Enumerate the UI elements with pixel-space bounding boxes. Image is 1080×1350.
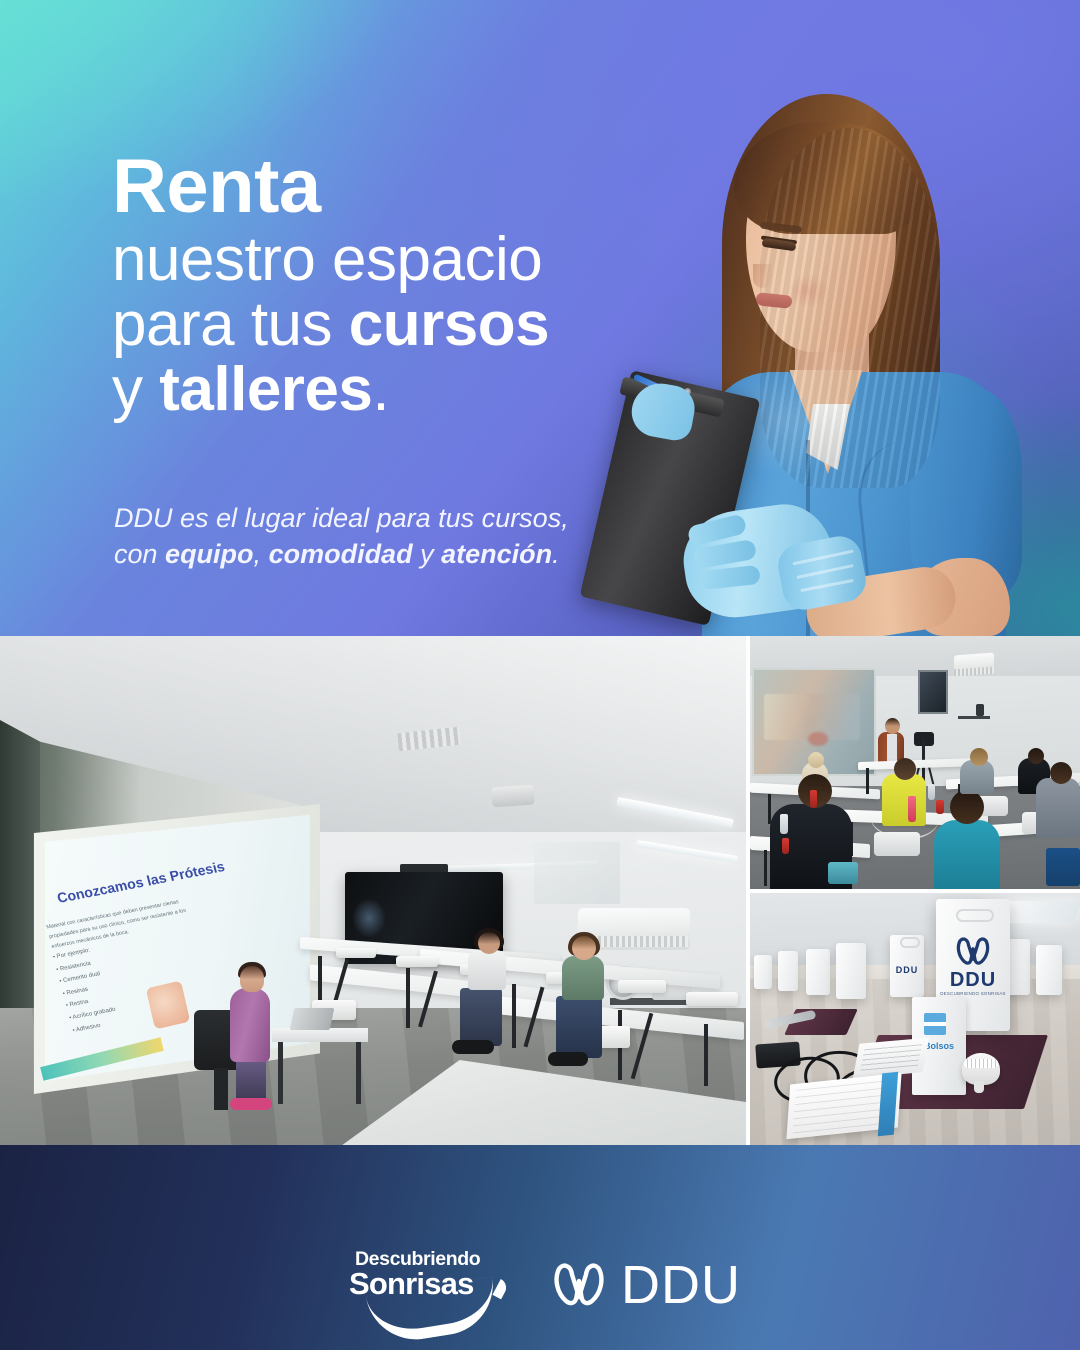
- kit-bag: [778, 951, 798, 991]
- subheadline-line-2: con equipo, comodidad y atención.: [114, 536, 634, 572]
- attendee-head: [950, 790, 984, 824]
- kit-bag: [1036, 945, 1062, 995]
- presenter-legs: [236, 1056, 266, 1102]
- supply-box: [828, 862, 858, 884]
- desk-leg: [764, 850, 767, 886]
- water-bottle: [780, 814, 788, 834]
- presenter-desk-leg: [356, 1042, 361, 1104]
- desk-leg: [866, 768, 869, 794]
- chair: [618, 980, 666, 993]
- ddu-tooth-mark-icon: [553, 1262, 605, 1308]
- subheadline-bold-comodidad: comodidad: [269, 539, 413, 569]
- headline-line-3-bold: cursos: [349, 290, 549, 359]
- student-legs: [556, 996, 602, 1058]
- chair: [396, 956, 438, 967]
- classroom-photo-left: Conozcamos las Prótesis Material con car…: [0, 636, 746, 1145]
- student-shoes: [452, 1040, 494, 1054]
- water-bottle: [782, 838, 789, 854]
- student-legs: [460, 988, 502, 1046]
- bag-wordmark-featured: DDU: [936, 969, 1010, 992]
- ddu-tooth-mark-icon: [956, 937, 990, 967]
- subheadline-plain-2: ,: [254, 539, 269, 569]
- subheadline-period: .: [552, 539, 560, 569]
- bag-wordmark: DDU: [890, 965, 924, 975]
- wall-mounted-tv: [918, 670, 948, 714]
- headline-line-1: Renta: [112, 150, 672, 224]
- presenter-torso: [230, 988, 270, 1062]
- photo-strip: Conozcamos las Prótesis Material con car…: [0, 636, 1080, 1145]
- headline-line-3-plain: para tus: [112, 290, 349, 359]
- subheadline-bold-equipo: equipo: [165, 539, 254, 569]
- floor-cable: [868, 780, 942, 841]
- table-leg: [512, 984, 516, 1048]
- presenter-desk: [272, 1028, 368, 1042]
- student-torso: [468, 950, 506, 990]
- dental-model-base: [974, 1081, 984, 1093]
- projector: [491, 785, 534, 808]
- dental-model-teeth: [964, 1059, 998, 1068]
- laptop: [290, 1008, 335, 1030]
- presenter-head: [885, 718, 900, 734]
- wall-shelf: [958, 716, 990, 719]
- subheadline: DDU es el lugar ideal para tus cursos, c…: [114, 500, 634, 572]
- attendee-torso: [934, 820, 1000, 889]
- footer-logos: Descubriendo Sonrisas DDU: [0, 1240, 1080, 1330]
- subheadline-line-1: DDU es el lugar ideal para tus cursos,: [114, 500, 634, 536]
- model-nose: [753, 264, 772, 288]
- headline: Renta nuestro espacio para tus cursos y …: [112, 150, 672, 421]
- student-shoes: [548, 1052, 588, 1066]
- attendee-head: [808, 752, 824, 768]
- headline-line-4-bold: talleres: [159, 355, 372, 424]
- dental-professional-photo: [610, 88, 1080, 636]
- subheadline-bold-atencion: atención: [441, 539, 552, 569]
- attendee-head: [894, 758, 916, 780]
- bag-handle: [900, 937, 920, 948]
- branded-bag: [1046, 848, 1080, 886]
- table-rows: [300, 926, 746, 1076]
- kit-bag: [806, 949, 830, 995]
- presenter-shirt: [887, 734, 897, 762]
- ddu-logo: DDU: [553, 1258, 741, 1312]
- student-torso: [562, 956, 604, 1000]
- bag-handle: [956, 909, 994, 922]
- student-head: [478, 932, 500, 954]
- wall-window: [534, 842, 620, 904]
- subheadline-plain-1: con: [114, 539, 165, 569]
- headline-line-4-plain: y: [112, 355, 159, 424]
- table-leg: [406, 968, 410, 1028]
- bag-tagline: DESCUBRIENDO SONRISAS: [936, 991, 1010, 996]
- hero-section: Renta nuestro espacio para tus cursos y …: [0, 0, 1080, 636]
- student-head: [572, 936, 596, 960]
- subheadline-plain-3: y: [413, 539, 442, 569]
- descubriendo-sonrisas-logo: Descubriendo Sonrisas: [339, 1248, 511, 1322]
- presenter-shoes: [230, 1098, 272, 1110]
- attendee-torso: [1036, 778, 1080, 838]
- chair: [336, 948, 376, 958]
- chair: [686, 992, 738, 1006]
- office-chair-base: [214, 1068, 228, 1110]
- presenter-head: [240, 966, 264, 992]
- headline-line-2: nuestro espacio: [112, 230, 672, 291]
- presenter-desk-leg: [278, 1042, 283, 1104]
- attendee-head: [970, 748, 988, 766]
- course-kit-photo-bottom-right: DDU DDU DDU DESCUBRIENDO SONRISAS Bolsos: [750, 893, 1080, 1145]
- classroom-photo-top-right: [750, 636, 1080, 889]
- headline-line-4-period: .: [372, 355, 389, 424]
- headline-line-4: y talleres.: [112, 360, 672, 421]
- ddu-wordmark: DDU: [621, 1258, 741, 1312]
- headline-line-3: para tus cursos: [112, 295, 672, 356]
- promo-poster: Renta nuestro espacio para tus cursos y …: [0, 0, 1080, 1350]
- attendee-head: [1050, 762, 1072, 784]
- attendee-head: [1028, 748, 1044, 764]
- table-leg: [704, 1024, 708, 1086]
- shelf-speaker: [976, 704, 984, 716]
- kit-bag: [754, 955, 772, 989]
- projected-highlight: [808, 732, 828, 746]
- pouch-icon: [924, 1013, 946, 1035]
- model-hair-strands: [760, 128, 940, 488]
- kit-bag: [836, 943, 866, 999]
- water-bottle: [810, 790, 817, 808]
